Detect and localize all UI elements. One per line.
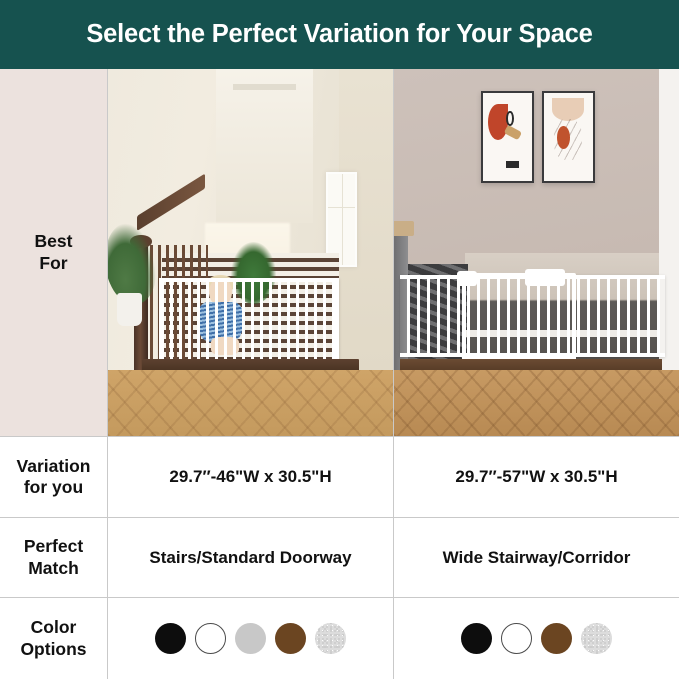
variation-value-right: 29.7″-57"W x 30.5"H: [394, 437, 679, 518]
color-swatch-speckled-gray[interactable]: [315, 623, 346, 654]
ceiling-edge: [233, 84, 296, 90]
art-shape-circle: [506, 111, 514, 127]
art-shape-tan-bar: [504, 125, 522, 140]
herringbone-floor: [394, 370, 679, 436]
row-label-text: Best For: [35, 231, 73, 274]
color-swatch-brown[interactable]: [541, 623, 572, 654]
row-label-text: Color Options: [20, 617, 86, 660]
comparison-infographic: Select the Perfect Variation for Your Sp…: [0, 0, 679, 679]
row-label-line2: Options: [20, 639, 86, 659]
newel-post-cap: [394, 221, 414, 236]
baby-gate-hinge: [457, 271, 477, 286]
baby-gate-latch: [525, 269, 565, 286]
row-label-line1: Perfect: [24, 536, 83, 556]
perfect-match-left-text: Stairs/Standard Doorway: [149, 548, 351, 568]
art-shape-tan-arch: [552, 98, 584, 121]
row-label-line1: Best: [35, 231, 73, 251]
color-swatch-white[interactable]: [195, 623, 226, 654]
row-label-line2: Match: [28, 558, 79, 578]
perfect-match-value-left: Stairs/Standard Doorway: [108, 518, 394, 598]
row-label-best-for: Best For: [0, 69, 108, 437]
variation-left-text: 29.7″-46"W x 30.5"H: [169, 467, 331, 487]
color-swatch-white[interactable]: [501, 623, 532, 654]
color-swatch-gray[interactable]: [235, 623, 266, 654]
color-swatch-black[interactable]: [155, 623, 186, 654]
color-options-right: [394, 598, 679, 679]
stair-gate-photo: [108, 69, 393, 436]
photo-cell-left: [108, 69, 394, 437]
variation-right-text: 29.7″-57"W x 30.5"H: [455, 467, 617, 487]
row-label-line2: for you: [24, 477, 83, 497]
plant-pot: [117, 293, 143, 326]
photo-cell-right: [394, 69, 679, 437]
baby-gate-door: [462, 273, 576, 361]
row-label-line1: Variation: [17, 456, 91, 476]
swatch-list-left: [155, 623, 346, 654]
row-label-perfect-match: Perfect Match: [0, 518, 108, 598]
perfect-match-right-text: Wide Stairway/Corridor: [443, 548, 631, 568]
wall-art-frame-left: [481, 91, 534, 183]
perfect-match-value-right: Wide Stairway/Corridor: [394, 518, 679, 598]
wall-art-frame-right: [542, 91, 595, 183]
wall-recess: [216, 69, 313, 223]
variation-value-left: 29.7″-46"W x 30.5"H: [108, 437, 394, 518]
row-label-color-options: Color Options: [0, 598, 108, 679]
comparison-table: Best For: [0, 69, 679, 679]
corridor-gate-photo: [394, 69, 679, 436]
art-shape-red: [488, 104, 508, 141]
art-shape-orange-oval: [557, 126, 570, 149]
row-label-line1: Color: [31, 617, 77, 637]
swatch-list-right: [461, 623, 612, 654]
color-options-left: [108, 598, 394, 679]
color-swatch-speckled-gray[interactable]: [581, 623, 612, 654]
color-swatch-brown[interactable]: [275, 623, 306, 654]
art-shape-dark-bar: [506, 161, 519, 169]
color-swatch-black[interactable]: [461, 623, 492, 654]
page-title: Select the Perfect Variation for Your Sp…: [86, 20, 592, 49]
header-banner: Select the Perfect Variation for Your Sp…: [0, 0, 679, 69]
row-label-line2: For: [39, 253, 67, 273]
row-label-variation-for-you: Variation for you: [0, 437, 108, 518]
row-label-text: Perfect Match: [24, 536, 83, 579]
herringbone-floor: [108, 370, 393, 436]
row-label-text: Variation for you: [17, 456, 91, 499]
baby-gate: [159, 278, 339, 366]
